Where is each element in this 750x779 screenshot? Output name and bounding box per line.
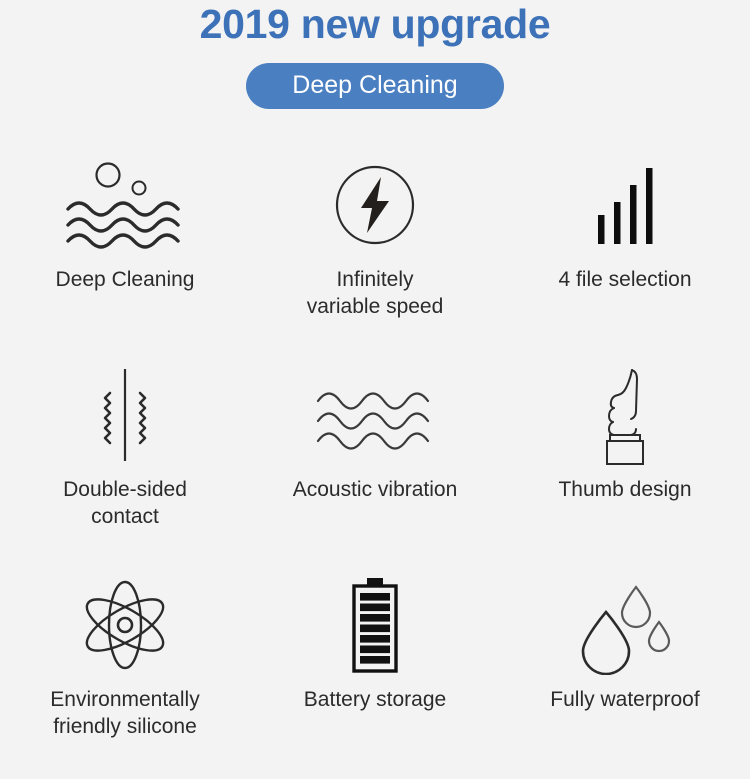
feature-label: Deep Cleaning (56, 267, 195, 294)
page-title: 2019 new upgrade (200, 2, 551, 47)
feature-item-battery-storage: Battery storage (250, 569, 500, 779)
feature-item-eco-silicone: Environmentally friendly silicone (0, 569, 250, 779)
feature-item-acoustic-vibration: Acoustic vibration (250, 359, 500, 569)
sound-waves-icon (313, 365, 437, 465)
feature-label: Infinitely variable speed (307, 267, 444, 321)
signal-bars-icon (595, 155, 655, 255)
water-droplets-icon (573, 575, 677, 675)
feature-label: Double-sided contact (63, 477, 187, 531)
feature-item-variable-speed: Infinitely variable speed (250, 149, 500, 359)
feature-item-double-sided-contact: Double-sided contact (0, 359, 250, 569)
feature-item-file-selection: 4 file selection (500, 149, 750, 359)
feature-label: Acoustic vibration (293, 477, 458, 504)
feature-label: Battery storage (304, 687, 446, 714)
lightning-bolt-circle-icon (334, 155, 416, 255)
feature-label: 4 file selection (558, 267, 691, 294)
battery-full-icon (345, 575, 405, 675)
feature-label: Environmentally friendly silicone (50, 687, 199, 741)
thumbs-up-icon (593, 365, 657, 465)
feature-item-waterproof: Fully waterproof (500, 569, 750, 779)
double-sided-contact-icon (88, 365, 162, 465)
deep-cleaning-badge: Deep Cleaning (246, 63, 503, 109)
infographic-page: 2019 new upgrade Deep Cleaning Deep Clea… (0, 0, 750, 750)
feature-item-deep-cleaning: Deep Cleaning (0, 149, 250, 359)
atom-icon (79, 575, 171, 675)
feature-label: Thumb design (558, 477, 691, 504)
feature-label: Fully waterproof (550, 687, 699, 714)
feature-grid: Deep Cleaning Infinitely variable speed (0, 149, 750, 779)
feature-item-thumb-design: Thumb design (500, 359, 750, 569)
water-waves-bubbles-icon (60, 155, 190, 255)
